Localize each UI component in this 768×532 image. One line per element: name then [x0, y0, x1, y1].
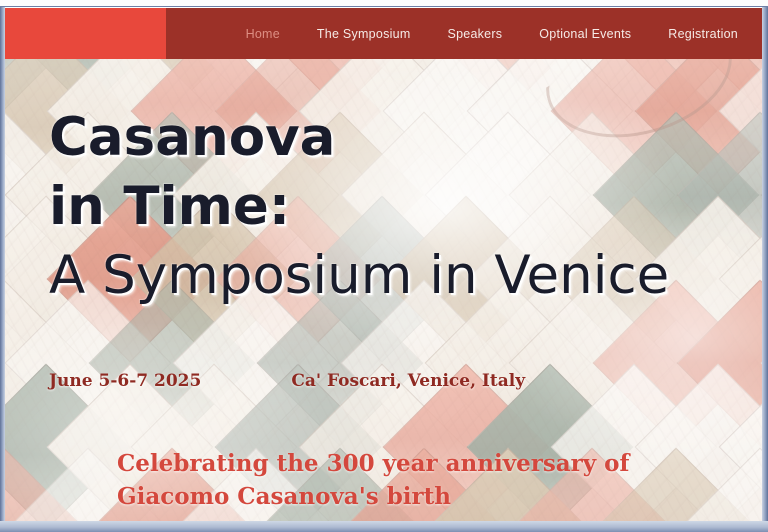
browser-chrome-right-edge: [762, 7, 768, 525]
site-header: Home The Symposium Speakers Optional Eve…: [5, 8, 762, 59]
brand-logo-block[interactable]: [5, 8, 166, 59]
nav-item-the-symposium[interactable]: The Symposium: [317, 27, 411, 41]
browser-window-frame: Home The Symposium Speakers Optional Eve…: [0, 0, 768, 532]
nav-item-home[interactable]: Home: [246, 27, 280, 41]
page-title-line-2: in Time:: [49, 173, 669, 242]
page-viewport: Home The Symposium Speakers Optional Eve…: [5, 8, 762, 521]
browser-chrome-top-strip: [0, 0, 768, 7]
event-venue: Ca' Foscari, Venice, Italy: [291, 371, 525, 391]
page-title-line-1: Casanova: [49, 104, 669, 173]
event-meta-row: June 5-6-7 2025 Ca' Foscari, Venice, Ita…: [49, 371, 525, 391]
nav-item-speakers[interactable]: Speakers: [447, 27, 502, 41]
nav-item-optional-events[interactable]: Optional Events: [539, 27, 631, 41]
main-navigation: Home The Symposium Speakers Optional Eve…: [166, 8, 762, 59]
nav-item-registration[interactable]: Registration: [668, 27, 738, 41]
browser-chrome-bottom-strip: [0, 521, 768, 532]
event-dates: June 5-6-7 2025: [49, 371, 201, 391]
event-tagline-line-2: Giacomo Casanova's birth: [117, 481, 629, 514]
page-title: Casanova in Time: A Symposium in Venice: [49, 104, 669, 311]
event-tagline-line-1: Celebrating the 300 year anniversary of: [117, 448, 629, 481]
event-tagline: Celebrating the 300 year anniversary of …: [117, 448, 629, 513]
page-title-line-3: A Symposium in Venice: [49, 242, 669, 311]
